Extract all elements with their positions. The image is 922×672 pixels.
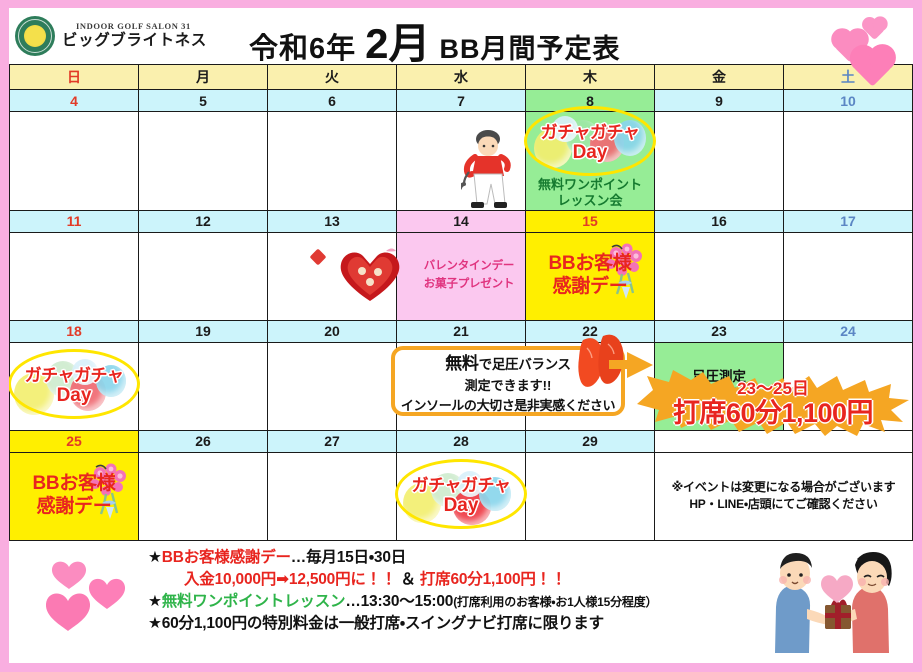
foot-pressure-callout: 無料で足圧バランス 測定できます!! インソールの大切さ是非実感ください: [391, 346, 625, 416]
footer-line-2: 入金10,000円➡12,500円に！！ ＆ 打席60分1,100円！！: [148, 569, 657, 591]
event-cell-15: BBお客様 感謝デー: [526, 232, 655, 320]
date-cell-24: 24: [784, 320, 913, 342]
callout-line3: インソールの大切さ是非実感ください: [401, 395, 615, 414]
green-sun-badge-icon: [15, 16, 55, 56]
date-cell-21: 21: [397, 320, 526, 342]
date-cell-7: 7: [397, 90, 526, 112]
event-cell-11: [10, 232, 139, 320]
event-cell-20: [268, 342, 397, 430]
date-cell-14: 14: [397, 210, 526, 232]
week1-date-row: 4 5 6 7 8 9 10: [10, 90, 913, 112]
title-era: 令和6年: [249, 25, 356, 67]
footer-line1-red: BBお客様感謝デー: [162, 549, 291, 566]
gacha-badge-8: ガチャガチャ Day: [528, 112, 652, 174]
footer-line-3: ★無料ワンポイントレッスン…13:30〜15:00(打席利用のお客様・お1人様1…: [148, 591, 657, 613]
date-cell-9: 9: [655, 90, 784, 112]
calendar-poster: INDOOR GOLF SALON 31 ビッグブライトネス 令和6年 2月 B…: [0, 0, 922, 672]
footer-line2-red: 入金10,000円➡12,500円に！！: [184, 571, 396, 588]
date-cell-13: 13: [268, 210, 397, 232]
footer-line2-amp: ＆: [400, 571, 415, 588]
date-cell-15: 15: [526, 210, 655, 232]
hearts-decoration-bottom-left: [33, 549, 143, 635]
burst-line2: 打席60分1,100円: [673, 399, 873, 427]
callout-line1-rest: で足圧バランス: [479, 357, 571, 372]
brand-logo: INDOOR GOLF SALON 31 ビッグブライトネス: [15, 16, 207, 56]
event-cell-19: [139, 342, 268, 430]
gacha-badge-28: ガチャガチャ Day: [399, 465, 523, 527]
notice-line1: ※イベントは変更になる場合がございます: [655, 479, 912, 496]
event-cell-7: [397, 112, 526, 211]
brand-text: INDOOR GOLF SALON 31 ビッグブライトネス: [62, 22, 207, 49]
footer-line-1: ★BBお客様感謝デー…毎月15日・30日: [148, 547, 657, 569]
notice-line2: HP・LINE・店頭にてご確認ください: [655, 496, 912, 513]
event-cell-13: [268, 232, 397, 320]
date-cell-5: 5: [139, 90, 268, 112]
event-cell-25: BBお客様 感謝デー: [10, 452, 139, 540]
poster-header: INDOOR GOLF SALON 31 ビッグブライトネス 令和6年 2月 B…: [9, 8, 913, 64]
date-cell-8: 8: [526, 90, 655, 112]
date-cell-17: 17: [784, 210, 913, 232]
date-cell-27: 27: [268, 430, 397, 452]
date-cell-19: 19: [139, 320, 268, 342]
event-cell-26: [139, 452, 268, 540]
gacha-badge-18: ガチャガチャ Day: [12, 355, 136, 417]
footer-line3-black: …13:30〜15:00: [345, 593, 453, 610]
hearts-decoration-top-right: [833, 6, 911, 74]
weekday-header-fri: 金: [655, 65, 784, 90]
gacha-label-line2: Day: [57, 386, 92, 405]
date-cell-11: 11: [10, 210, 139, 232]
date-cell-25: 25: [10, 430, 139, 452]
valentine-line1: バレンタインデー: [413, 258, 525, 276]
event-cell-16: [655, 232, 784, 320]
date-cell-12: 12: [139, 210, 268, 232]
date-cell-20: 20: [268, 320, 397, 342]
week1-event-row: ガチャガチャ Day 無料ワンポイント レッスン会: [10, 112, 913, 211]
gacha-label-line2: Day: [444, 496, 479, 515]
event-cell-28: ガチャガチャ Day: [397, 452, 526, 540]
brand-name-en: INDOOR GOLF SALON 31: [62, 22, 207, 31]
date-cell-28: 28: [397, 430, 526, 452]
footer-line3-star: ★: [148, 593, 162, 610]
date-cell-4: 4: [10, 90, 139, 112]
weekday-header-sun: 日: [10, 65, 139, 90]
gacha-label-line1: ガチャガチャ: [541, 124, 640, 141]
gacha-label-line1: ガチャガチャ: [412, 477, 511, 494]
date-cell-16: 16: [655, 210, 784, 232]
callout-line1-strong: 無料: [445, 354, 478, 373]
date-cell-18: 18: [10, 320, 139, 342]
event-cell-8: ガチャガチャ Day 無料ワンポイント レッスン会: [526, 112, 655, 211]
price-burst-banner: 23〜25日 打席60分1,100円: [637, 370, 909, 438]
footer-line1-star: ★: [148, 549, 162, 566]
lesson-note-line2: レッスン会: [526, 193, 654, 209]
valentine-couple-illustration: [767, 551, 901, 655]
bb-thanks-label-25: BBお客様 感謝デー: [10, 473, 138, 519]
event-cell-29: [526, 452, 655, 540]
date-cell-10: 10: [784, 90, 913, 112]
event-cell-10: [784, 112, 913, 211]
bb-thanks-25-line1: BBお客様: [10, 473, 138, 496]
footer-line2-red2: 打席60分1,100円！！: [420, 571, 566, 588]
week3-date-row: 18 19 20 21 22 23 24: [10, 320, 913, 342]
gacha-label-line2: Day: [573, 143, 608, 162]
brand-name-jp: ビッグブライトネス: [62, 33, 207, 49]
heart-chocolate-box-illustration: [336, 245, 406, 305]
bb-thanks-15-line2: 感謝デー: [526, 276, 654, 299]
footer-line3-small: (打席利用のお客様・お1人様15分程度）: [453, 595, 657, 609]
bb-thanks-label-15: BBお客様 感謝デー: [526, 253, 654, 299]
monthly-calendar: 日 月 火 水 木 金 土 4 5 6 7 8 9 10: [9, 64, 913, 541]
footer-line3-green: 無料ワンポイントレッスン: [162, 593, 346, 610]
poster-inner: INDOOR GOLF SALON 31 ビッグブライトネス 令和6年 2月 B…: [9, 8, 913, 663]
week2-date-row: 11 12 13 14 15 16 17: [10, 210, 913, 232]
golfer-illustration: [461, 130, 515, 208]
event-cell-27: [268, 452, 397, 540]
event-cell-12: [139, 232, 268, 320]
valentine-event-label: バレンタインデー お菓子プレゼント: [397, 258, 525, 294]
title-subtitle: BB月間予定表: [440, 27, 621, 66]
week4-event-row: BBお客様 感謝デー: [10, 452, 913, 540]
date-cell-29: 29: [526, 430, 655, 452]
burst-line1: 23〜25日: [737, 380, 809, 397]
event-cell-14: バレンタインデー お菓子プレゼント: [397, 232, 526, 320]
event-cell-17: [784, 232, 913, 320]
event-cell-18: ガチャガチャ Day: [10, 342, 139, 430]
page-title: 令和6年 2月 BB月間予定表: [249, 10, 621, 71]
event-cell-6: [268, 112, 397, 211]
event-cell-5: [139, 112, 268, 211]
event-cell-4: [10, 112, 139, 211]
valentine-line2: お菓子プレゼント: [413, 276, 525, 294]
event-change-notice: ※イベントは変更になる場合がございます HP・LINE・店頭にてご確認ください: [655, 479, 912, 514]
lesson-note-8: 無料ワンポイント レッスン会: [526, 177, 654, 210]
gacha-label-line1: ガチャガチャ: [25, 367, 124, 384]
footer-text-block: ★BBお客様感謝デー…毎月15日・30日 入金10,000円➡12,500円に！…: [148, 547, 657, 635]
bb-thanks-15-line1: BBお客様: [526, 253, 654, 276]
bb-thanks-25-line2: 感謝デー: [10, 496, 138, 519]
date-cell-26: 26: [139, 430, 268, 452]
date-cell-23: 23: [655, 320, 784, 342]
title-month: 2月: [365, 10, 430, 71]
callout-line2: 測定できます!!: [465, 375, 552, 394]
footer-line-4: ★60分1,100円の特別料金は一般打席・スイングナビ打席に限ります: [148, 613, 657, 635]
lesson-note-line1: 無料ワンポイント: [526, 177, 654, 193]
footer-line1-black: …毎月15日・30日: [291, 549, 406, 566]
week2-event-row: バレンタインデー お菓子プレゼント BBお客様 感謝デー: [10, 232, 913, 320]
notice-cell: ※イベントは変更になる場合がございます HP・LINE・店頭にてご確認ください: [655, 452, 913, 540]
event-cell-9: [655, 112, 784, 211]
callout-line1: 無料で足圧バランス: [445, 349, 571, 374]
date-cell-6: 6: [268, 90, 397, 112]
poster-footer: ★BBお客様感謝デー…毎月15日・30日 入金10,000円➡12,500円に！…: [9, 541, 913, 655]
